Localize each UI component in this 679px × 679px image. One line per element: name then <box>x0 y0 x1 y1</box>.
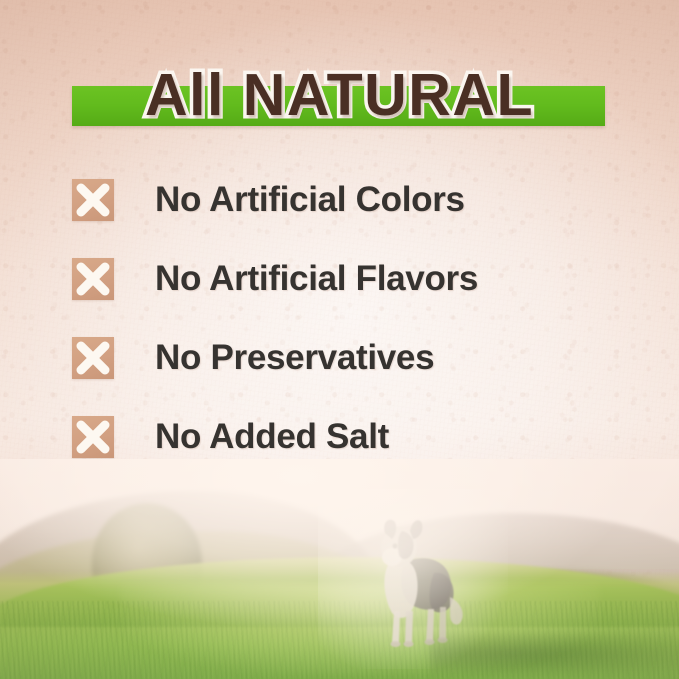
x-mark-icon <box>72 416 114 458</box>
header-banner: All NATURAL <box>0 52 679 138</box>
border-collie-dog <box>352 511 470 651</box>
list-item: No Preservatives <box>72 328 612 407</box>
list-item: No Artificial Flavors <box>72 249 612 328</box>
dog-in-field-photo <box>0 459 679 679</box>
all-natural-product-panel: All NATURAL No Artificial Colors <box>0 0 679 679</box>
feature-label: No Artificial Colors <box>155 170 465 230</box>
list-item: No Artificial Colors <box>72 170 612 249</box>
x-mark-icon <box>72 258 114 300</box>
page-title: All NATURAL <box>0 52 679 138</box>
x-mark-icon <box>72 337 114 379</box>
feature-label: No Added Salt <box>155 407 389 467</box>
feature-label: No Artificial Flavors <box>155 249 478 309</box>
x-mark-icon <box>72 179 114 221</box>
feature-list: No Artificial Colors No Artificial Flavo… <box>72 170 612 486</box>
feature-label: No Preservatives <box>155 328 434 388</box>
